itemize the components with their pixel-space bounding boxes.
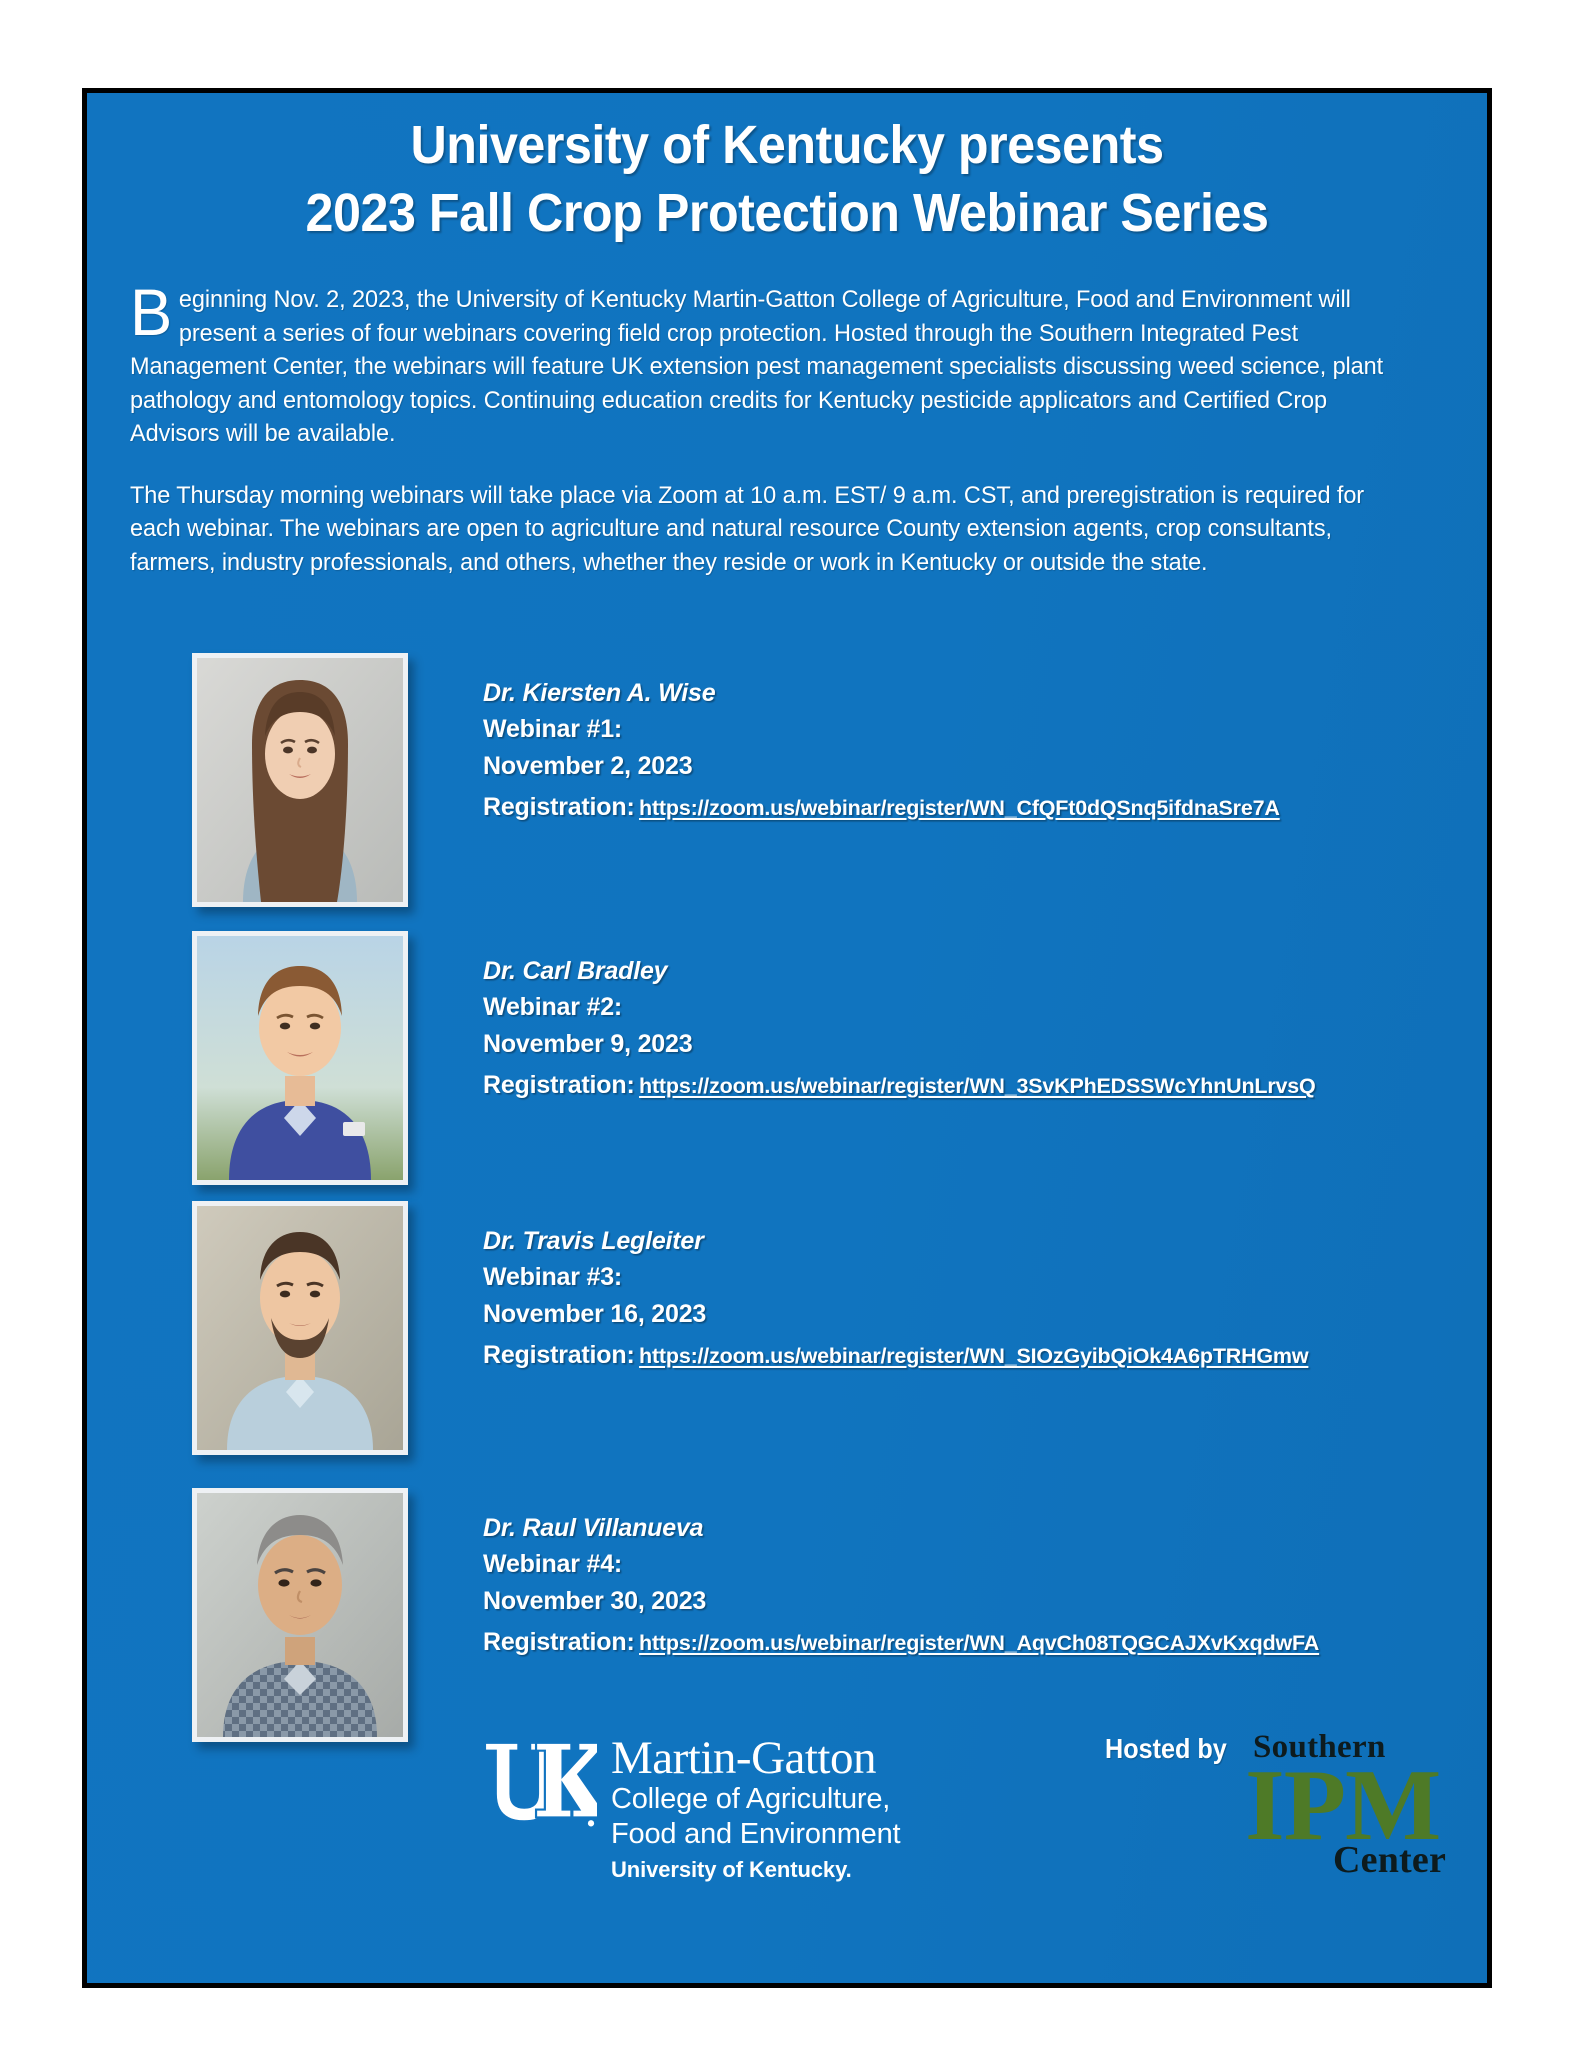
speaker-name: Dr. Carl Bradley	[483, 953, 1316, 989]
speaker-row: Dr. Carl Bradley Webinar #2: November 9,…	[87, 931, 1487, 1199]
registration-label: Registration:	[483, 1628, 635, 1656]
registration-link[interactable]: https://zoom.us/webinar/register/WN_SIOz…	[639, 1344, 1308, 1368]
speaker-date: November 16, 2023	[483, 1296, 1308, 1332]
title-line-2: 2023 Fall Crop Protection Webinar Series	[136, 179, 1438, 247]
speaker-date: November 9, 2023	[483, 1026, 1316, 1062]
avatar	[192, 931, 408, 1185]
ipm-logo-center: Center	[1333, 1838, 1446, 1882]
registration-line: Registration: https://zoom.us/webinar/re…	[483, 1341, 1308, 1370]
speaker-name: Dr. Raul Villanueva	[483, 1510, 1319, 1546]
speaker-details: Dr. Carl Bradley Webinar #2: November 9,…	[483, 953, 1316, 1100]
uk-logo-line-3: Food and Environment	[611, 1817, 900, 1852]
registration-line: Registration: https://zoom.us/webinar/re…	[483, 1071, 1316, 1100]
portrait-illustration	[197, 1206, 403, 1450]
drop-cap: B	[130, 283, 179, 339]
speaker-name: Dr. Kiersten A. Wise	[483, 675, 1280, 711]
poster-background: University of Kentucky presents 2023 Fal…	[87, 93, 1487, 1983]
registration-label: Registration:	[483, 1341, 635, 1369]
headshot-raul-villanueva	[197, 1493, 403, 1737]
avatar	[192, 653, 408, 907]
speaker-name: Dr. Travis Legleiter	[483, 1223, 1308, 1259]
headshot-carl-bradley	[197, 936, 403, 1180]
speaker-details: Dr. Travis Legleiter Webinar #3: Novembe…	[483, 1223, 1308, 1370]
intro-block: Beginning Nov. 2, 2023, the University o…	[130, 283, 1450, 580]
uk-logo-wordmark: Martin-Gatton College of Agriculture, Fo…	[611, 1733, 900, 1886]
registration-link[interactable]: https://zoom.us/webinar/register/WN_CfQF…	[639, 796, 1280, 820]
page-title: University of Kentucky presents 2023 Fal…	[87, 111, 1487, 247]
speaker-date: November 2, 2023	[483, 748, 1280, 784]
registration-link[interactable]: https://zoom.us/webinar/register/WN_3SvK…	[639, 1074, 1316, 1098]
portrait-illustration	[197, 658, 403, 902]
uk-monogram-icon	[479, 1733, 597, 1841]
speaker-date: November 30, 2023	[483, 1583, 1319, 1619]
uk-monogram-svg	[479, 1733, 597, 1841]
intro-paragraph-2: The Thursday morning webinars will take …	[130, 479, 1397, 580]
speaker-row: Dr. Travis Legleiter Webinar #3: Novembe…	[87, 1201, 1487, 1469]
speaker-webinar-number: Webinar #2:	[483, 989, 1316, 1025]
portrait-illustration	[197, 936, 403, 1180]
speaker-row: Dr. Raul Villanueva Webinar #4: November…	[87, 1488, 1487, 1756]
registration-link[interactable]: https://zoom.us/webinar/register/WN_AqvC…	[639, 1631, 1319, 1655]
southern-ipm-center-logo: Hosted by Southern IPM Center	[1105, 1725, 1435, 1905]
registration-line: Registration: https://zoom.us/webinar/re…	[483, 1628, 1319, 1657]
uk-logo-line-2: College of Agriculture,	[611, 1782, 900, 1817]
title-line-1: University of Kentucky presents	[136, 111, 1438, 179]
speaker-details: Dr. Kiersten A. Wise Webinar #1: Novembe…	[483, 675, 1280, 822]
registration-line: Registration: https://zoom.us/webinar/re…	[483, 793, 1280, 822]
avatar	[192, 1488, 408, 1742]
uk-logo-line-4: University of Kentucky.	[611, 1853, 900, 1886]
poster-frame: University of Kentucky presents 2023 Fal…	[82, 88, 1492, 1988]
speaker-details: Dr. Raul Villanueva Webinar #4: November…	[483, 1510, 1319, 1657]
intro-paragraph-1-text: eginning Nov. 2, 2023, the University of…	[130, 286, 1383, 447]
portrait-illustration	[197, 1493, 403, 1737]
registration-label: Registration:	[483, 793, 635, 821]
footer-logos: Martin-Gatton College of Agriculture, Fo…	[87, 1725, 1487, 1925]
uk-martin-gatton-logo: Martin-Gatton College of Agriculture, Fo…	[479, 1733, 900, 1886]
hosted-by-label: Hosted by	[1105, 1733, 1227, 1765]
speaker-webinar-number: Webinar #4:	[483, 1546, 1319, 1582]
intro-paragraph-1: Beginning Nov. 2, 2023, the University o…	[130, 283, 1397, 451]
speaker-row: Dr. Kiersten A. Wise Webinar #1: Novembe…	[87, 653, 1487, 921]
registration-label: Registration:	[483, 1071, 635, 1099]
uk-logo-line-1: Martin-Gatton	[611, 1735, 900, 1782]
speaker-webinar-number: Webinar #3:	[483, 1259, 1308, 1295]
headshot-travis-legleiter	[197, 1206, 403, 1450]
avatar	[192, 1201, 408, 1455]
headshot-kiersten-wise	[197, 658, 403, 902]
speaker-webinar-number: Webinar #1:	[483, 711, 1280, 747]
